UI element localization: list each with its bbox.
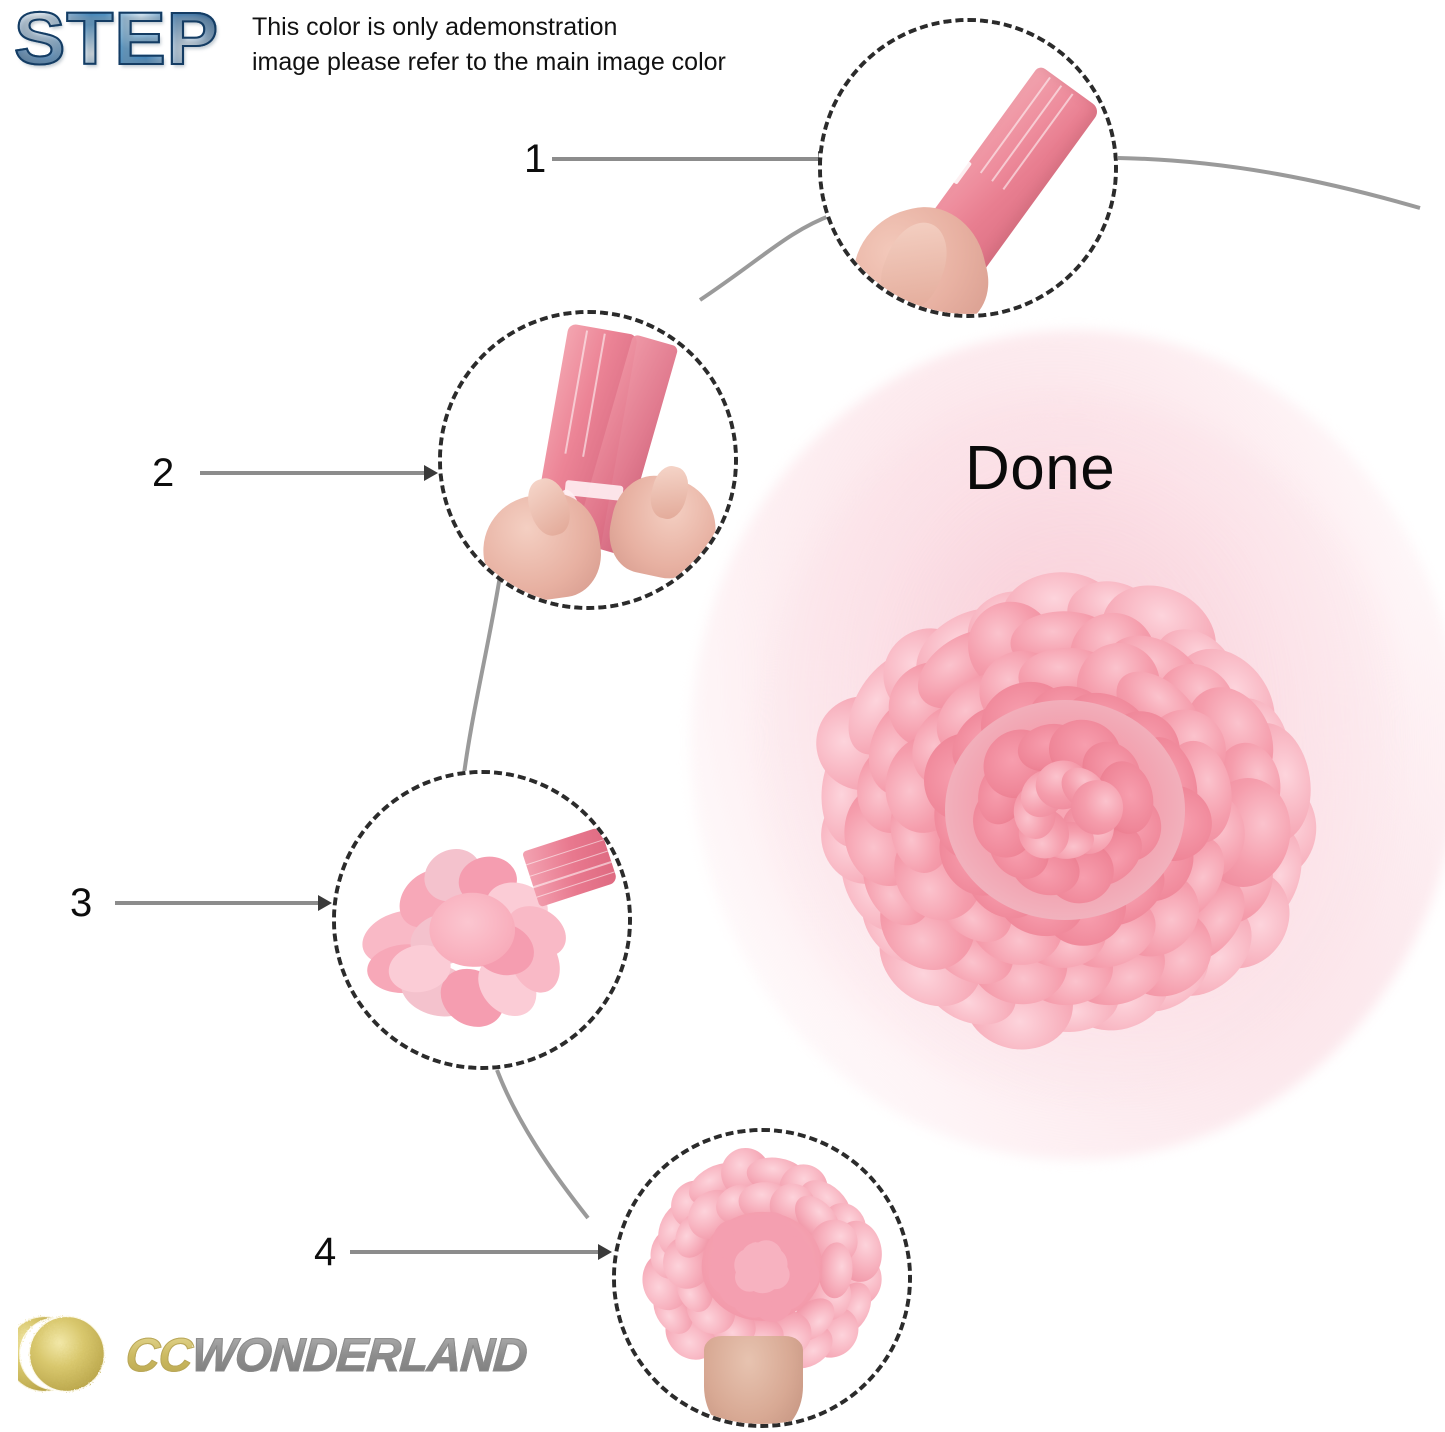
done-label: Done: [965, 438, 1115, 500]
step-number-1: 1: [524, 139, 546, 179]
leader-arrow-3: [318, 895, 332, 911]
step-1-circle: [818, 18, 1118, 318]
instruction-infographic: STEP This color is only ademonstration i…: [0, 0, 1445, 1432]
brand-prefix: CC: [124, 1328, 194, 1381]
leader-arrow-2: [424, 465, 438, 481]
leader-arrow-4: [598, 1244, 612, 1260]
brand-suffix: WONDERLAND: [190, 1328, 528, 1381]
done-pompom-image: [785, 560, 1345, 1080]
step-3-circle: [332, 770, 632, 1070]
step-number-3: 3: [70, 883, 92, 923]
brand-wordmark: CCWONDERLAND: [124, 1331, 528, 1378]
header-note-line-1: This color is only ademonstration: [252, 10, 852, 45]
step-number-4: 4: [314, 1232, 336, 1272]
header-note-line-2: image please refer to the main image col…: [252, 45, 852, 80]
hand: [704, 1336, 803, 1424]
step-2-circle: [438, 310, 738, 610]
crescent-moon-circle-icon: [18, 1307, 112, 1401]
flow-curve-1-out: [1118, 158, 1420, 208]
step-number-2: 2: [152, 453, 174, 493]
step-logo: STEP: [14, 2, 219, 76]
flow-curve-2-to-1: [700, 215, 832, 300]
header: STEP This color is only ademonstration i…: [0, 0, 1445, 100]
step-3-illustration: [336, 774, 628, 1066]
step-2-illustration: [442, 314, 734, 606]
step-1-illustration: [822, 22, 1114, 314]
flow-curve-3-to-2: [462, 576, 500, 790]
half-open-flower: [336, 774, 628, 1066]
step-4-circle: [612, 1128, 912, 1428]
brand-logo: CCWONDERLAND: [18, 1300, 527, 1408]
step-4-illustration: [616, 1132, 908, 1424]
header-note: This color is only ademonstration image …: [252, 10, 852, 79]
flow-curve-4-to-3: [497, 1070, 588, 1218]
